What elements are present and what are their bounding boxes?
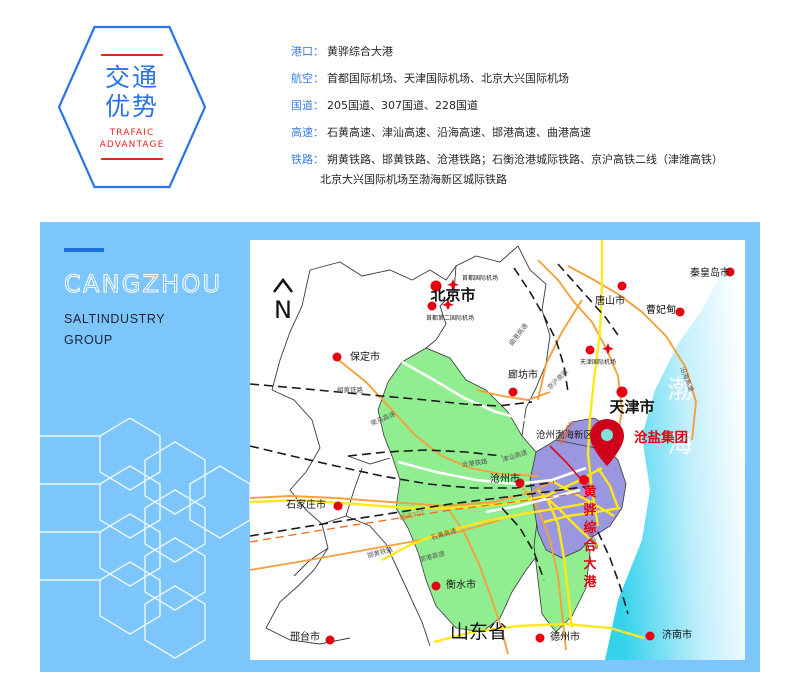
badge-title-line1: 交通 <box>105 63 159 92</box>
brand-block: CANGZHOU SALTINDUSTRY GROUP <box>64 248 254 351</box>
city-label: 德州市 <box>550 630 580 643</box>
badge-en-line2: ADVANTAGE <box>100 139 165 151</box>
info-key: 港口 <box>291 45 313 59</box>
airport-dot <box>432 282 441 291</box>
traffic-advantage-badge: 交通 优势 TRAFAIC ADVANTAGE <box>57 24 207 190</box>
info-separator: ： <box>313 126 324 140</box>
city-label: 石家庄市 <box>286 498 326 511</box>
header-section: 交通 优势 TRAFAIC ADVANTAGE 港口 ： 黄骅综合大港 航空 ：… <box>0 0 800 222</box>
city-dot <box>618 282 627 291</box>
compass-letter: N <box>274 296 292 324</box>
city-label: 唐山市 <box>595 294 625 307</box>
city-label: 济南市 <box>662 628 692 641</box>
airport-dot <box>428 302 437 311</box>
airport-label: 首都第二国际机场 <box>426 314 474 322</box>
port-label-char: 综 <box>583 520 596 536</box>
city-dot <box>334 502 343 511</box>
hebei-region-map[interactable]: N 渤 海 山东省 沧州渤海新区 国道307国道205石黄高速邯港高速邯黄铁路朔… <box>250 240 745 660</box>
port-label-char: 骅 <box>583 502 596 518</box>
city-dot <box>326 636 335 645</box>
province-label: 山东省 <box>450 621 507 643</box>
port-label-char: 合 <box>583 538 597 554</box>
airport-label: 天津国际机场 <box>580 358 616 366</box>
info-key: 高速 <box>291 126 313 140</box>
info-row-railway-continuation: 北京大兴国际机场至渤海新区城际铁路 <box>320 173 771 187</box>
city-label: 曹妃甸 <box>646 303 676 316</box>
info-row-railway: 铁路 ： 朔黄铁路、邯黄铁路、沧港铁路；石衡沧港城际铁路、京沪高铁二线（津潍高铁… <box>291 153 771 167</box>
map-panel: CANGZHOU SALTINDUSTRY GROUP <box>40 222 760 672</box>
city-label: 衡水市 <box>446 578 476 591</box>
info-key: 国道 <box>291 99 313 113</box>
info-key: 航空 <box>291 72 313 86</box>
info-key: 铁路 <box>291 153 313 167</box>
brand-rule <box>64 248 104 252</box>
city-marker[interactable]: 秦皇岛市 <box>690 266 735 279</box>
brand-name: CANGZHOU <box>64 270 254 298</box>
info-value: 205国道、307国道、228国道 <box>327 99 478 113</box>
info-separator: ： <box>313 99 324 113</box>
city-dot <box>536 634 545 643</box>
city-dot <box>432 582 441 591</box>
city-dot <box>333 353 342 362</box>
road-label: 朔黄铁路 <box>337 385 364 394</box>
city-label: 沧州市 <box>490 472 520 485</box>
city-dot <box>509 388 518 397</box>
honeycomb-decoration <box>40 418 255 668</box>
city-dot <box>676 308 685 317</box>
airport-label: 首都国际机场 <box>462 274 498 282</box>
city-label: 保定市 <box>350 350 380 363</box>
info-separator: ： <box>313 45 324 59</box>
port-label-char: 港 <box>583 574 597 590</box>
info-row-expressway: 高速 ： 石黄高速、津汕高速、沿海高速、邯港高速、曲港高速 <box>291 126 771 140</box>
transport-info-list: 港口 ： 黄骅综合大港 航空 ： 首都国际机场、天津国际机场、北京大兴国际机场 … <box>291 45 771 200</box>
badge-title-line2: 优势 <box>105 92 159 121</box>
company-label: 沧盐集团 <box>634 429 688 446</box>
info-value: 石黄高速、津汕高速、沿海高速、邯港高速、曲港高速 <box>327 126 591 140</box>
city-label: 廊坊市 <box>508 368 538 381</box>
city-label: 秦皇岛市 <box>690 266 730 279</box>
badge-rule-bottom <box>101 158 163 160</box>
city-label: 邢台市 <box>290 630 320 643</box>
info-separator: ： <box>313 153 324 167</box>
city-label: 天津市 <box>609 398 654 416</box>
info-value: 北京大兴国际机场至渤海新区城际铁路 <box>320 173 507 187</box>
info-value: 黄骅综合大港 <box>327 45 393 59</box>
port-label-char: 大 <box>583 556 596 572</box>
info-separator: ： <box>313 72 324 86</box>
info-row-national-road: 国道 ： 205国道、307国道、228国道 <box>291 99 771 113</box>
port-label-char: 黄 <box>583 484 596 500</box>
info-value: 朔黄铁路、邯黄铁路、沧港铁路；石衡沧港城际铁路、京沪高铁二线（津潍高铁） <box>327 153 723 167</box>
badge-en-line1: TRAFAIC <box>110 127 155 139</box>
brand-sub-line2: GROUP <box>64 330 254 351</box>
city-dot <box>646 632 655 641</box>
brand-sub-line1: SALTINDUSTRY <box>64 309 254 330</box>
info-row-aviation: 航空 ： 首都国际机场、天津国际机场、北京大兴国际机场 <box>291 72 771 86</box>
info-row-port: 港口 ： 黄骅综合大港 <box>291 45 771 59</box>
info-value: 首都国际机场、天津国际机场、北京大兴国际机场 <box>327 72 569 86</box>
city-dot <box>617 387 628 398</box>
map-container[interactable]: N 渤 海 山东省 沧州渤海新区 国道307国道205石黄高速邯港高速邯黄铁路朔… <box>250 240 745 660</box>
airport-dot <box>586 346 595 355</box>
badge-rule-top <box>101 54 163 56</box>
